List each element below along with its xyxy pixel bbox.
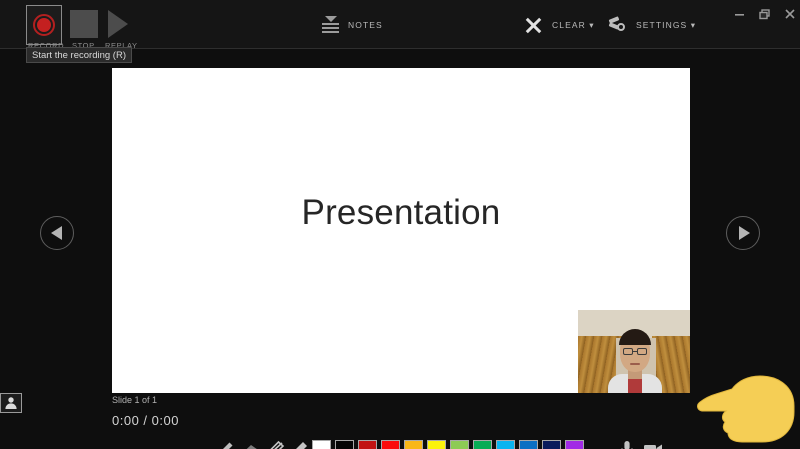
eraser-tool-button[interactable]	[240, 439, 262, 449]
record-button[interactable]	[26, 5, 62, 45]
clear-button-label: CLEAR ▾	[552, 20, 595, 31]
highlighter-tool-button[interactable]	[288, 439, 310, 449]
color-swatch-dark-red[interactable]	[358, 440, 377, 449]
chevron-right-icon	[739, 226, 750, 240]
microphone-icon-button[interactable]	[616, 439, 638, 449]
color-swatch-cyan[interactable]	[496, 440, 515, 449]
webcam-toggle-button[interactable]	[0, 393, 22, 413]
bottom-toolbar: Slide 1 of 1 0:00 / 0:00	[0, 393, 800, 449]
pen-tool-button[interactable]	[214, 439, 236, 449]
record-icon	[37, 18, 51, 32]
webcam-person-glasses-left	[623, 348, 633, 355]
color-swatch-blue[interactable]	[519, 440, 538, 449]
webcam-preview[interactable]	[578, 310, 690, 393]
slide-title: Presentation	[112, 193, 690, 233]
replay-button[interactable]	[108, 10, 136, 38]
settings-button-label: SETTINGS ▾	[636, 20, 696, 31]
video-camera-icon-button[interactable]	[642, 439, 664, 449]
chevron-left-icon	[51, 226, 62, 240]
color-swatch-white[interactable]	[312, 440, 331, 449]
close-button[interactable]	[779, 6, 800, 22]
clear-button[interactable]: CLEAR ▾	[525, 14, 595, 36]
restore-button[interactable]	[754, 6, 776, 22]
time-readout: 0:00 / 0:00	[112, 413, 179, 428]
top-toolbar: RECORD STOP REPLAY Start the recording (…	[0, 0, 800, 49]
minimize-button[interactable]	[729, 6, 751, 22]
notes-icon	[322, 15, 339, 35]
stop-button[interactable]	[70, 10, 98, 38]
notes-button[interactable]: NOTES	[322, 13, 383, 37]
screen-recorder-window: RECORD STOP REPLAY Start the recording (…	[0, 0, 800, 449]
next-slide-button[interactable]	[726, 216, 760, 250]
color-palette	[312, 440, 584, 449]
record-tooltip: Start the recording (R)	[26, 47, 132, 63]
slide-stage: Presentation Slide 1 of 1 0:00 / 0	[0, 49, 800, 449]
play-icon	[108, 10, 128, 38]
color-swatch-navy[interactable]	[542, 440, 561, 449]
stop-icon	[70, 10, 98, 38]
webcam-person-glasses-bridge	[633, 351, 637, 352]
slide-counter: Slide 1 of 1	[112, 395, 157, 405]
color-swatch-red[interactable]	[381, 440, 400, 449]
color-swatch-amber[interactable]	[404, 440, 423, 449]
color-swatch-yellow[interactable]	[427, 440, 446, 449]
color-swatch-green[interactable]	[473, 440, 492, 449]
crossout-tool-button[interactable]	[264, 439, 286, 449]
notes-button-label: NOTES	[348, 20, 383, 30]
previous-slide-button[interactable]	[40, 216, 74, 250]
color-swatch-purple[interactable]	[565, 440, 584, 449]
settings-button[interactable]: SETTINGS ▾	[608, 14, 696, 36]
webcam-person-glasses-right	[637, 348, 647, 355]
color-swatch-light-green[interactable]	[450, 440, 469, 449]
webcam-person-mouth	[630, 363, 640, 365]
color-swatch-black[interactable]	[335, 440, 354, 449]
close-x-icon	[525, 17, 542, 34]
gear-icon	[608, 16, 626, 34]
